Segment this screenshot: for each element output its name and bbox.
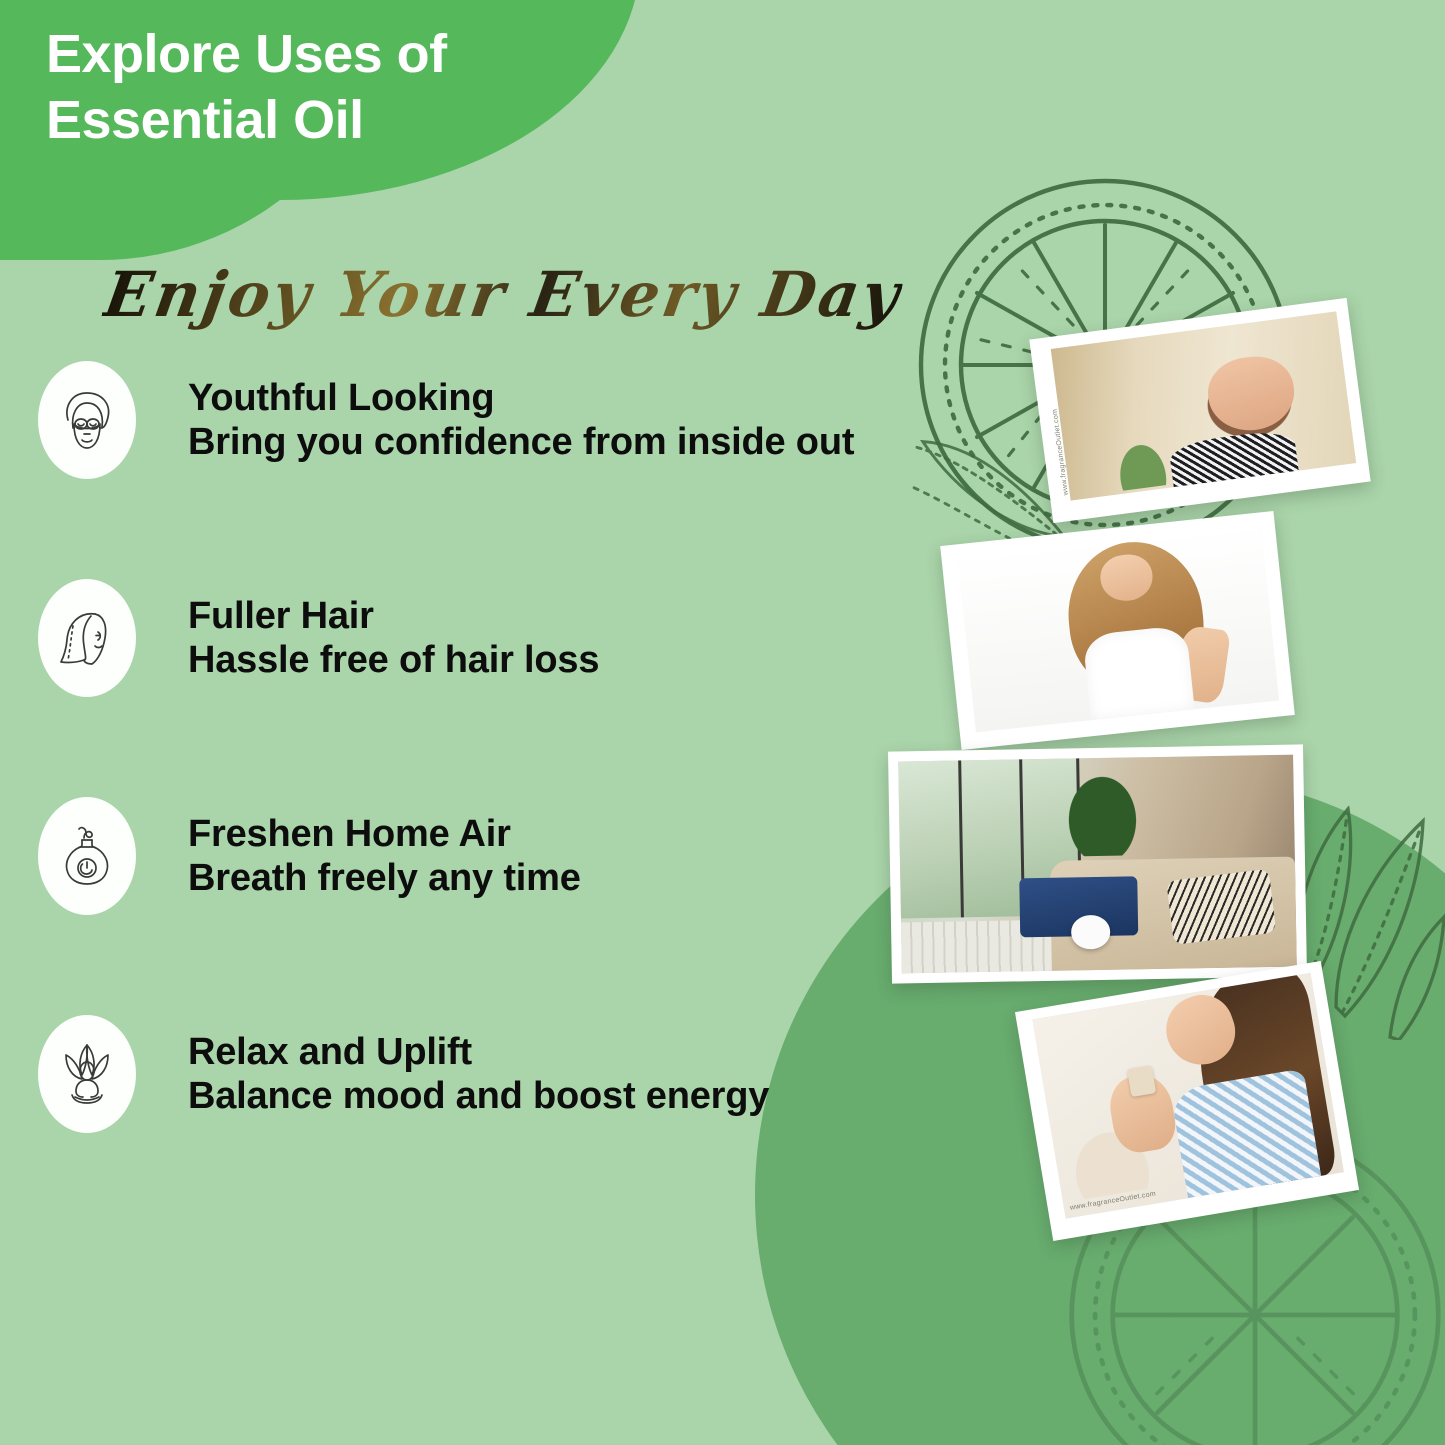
- feature-row-fuller-hair: Fuller Hair Hassle free of hair loss: [0, 578, 1060, 698]
- hair-profile-icon: [38, 579, 136, 697]
- feature-text-youthful-looking: Youthful Looking Bring you confidence fr…: [188, 376, 854, 464]
- feature-row-freshen-home-air: Freshen Home Air Breath freely any time: [0, 796, 1060, 916]
- page-title: Explore Uses of Essential Oil: [46, 22, 686, 154]
- photo-smiling-woman: www.fragranceOutlet.com: [1029, 298, 1370, 523]
- feature-title: Freshen Home Air: [188, 812, 581, 856]
- feature-row-youthful-looking: Youthful Looking Bring you confidence fr…: [0, 360, 1060, 480]
- feature-title: Fuller Hair: [188, 594, 599, 638]
- feature-subtitle: Balance mood and boost energy: [188, 1074, 769, 1118]
- feature-list: Youthful Looking Bring you confidence fr…: [0, 360, 1060, 1134]
- feature-subtitle: Bring you confidence from inside out: [188, 420, 854, 464]
- feature-title: Relax and Uplift: [188, 1030, 769, 1074]
- feature-text-freshen-home-air: Freshen Home Air Breath freely any time: [188, 812, 581, 900]
- lotus-meditation-icon: [38, 1015, 136, 1133]
- feature-subtitle: Breath freely any time: [188, 856, 581, 900]
- feature-row-relax-and-uplift: Relax and Uplift Balance mood and boost …: [0, 1014, 1060, 1134]
- face-mask-icon: [38, 361, 136, 479]
- feature-subtitle: Hassle free of hair loss: [188, 638, 599, 682]
- photo-applying-perfume-image: [1032, 973, 1343, 1219]
- aroma-diffuser-icon: [38, 797, 136, 915]
- feature-text-relax-and-uplift: Relax and Uplift Balance mood and boost …: [188, 1030, 769, 1118]
- photo-smiling-woman-image: [1051, 311, 1357, 500]
- feature-text-fuller-hair: Fuller Hair Hassle free of hair loss: [188, 594, 599, 682]
- poster-canvas: Explore Uses of Essential Oil Enjoy Your…: [0, 0, 1445, 1445]
- script-tagline: Enjoy Your Every Day: [99, 258, 907, 331]
- feature-title: Youthful Looking: [188, 376, 854, 420]
